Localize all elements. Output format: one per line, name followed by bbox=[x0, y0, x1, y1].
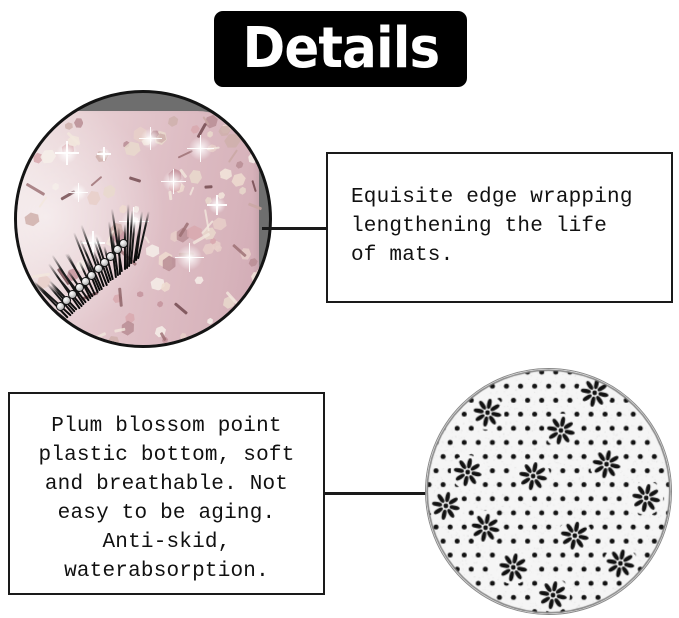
connector-line-bottom bbox=[323, 492, 429, 495]
product-photo-plastic-bottom bbox=[425, 368, 672, 615]
details-title-banner: Details bbox=[214, 11, 467, 87]
eyelash-decoration bbox=[39, 221, 157, 339]
product-photo-edge-wrapping bbox=[14, 90, 272, 348]
page-title: Details bbox=[242, 21, 439, 77]
plum-blossom-dot-pattern bbox=[426, 369, 671, 614]
callout-edge-wrapping: Equisite edge wrapping lengthening the l… bbox=[326, 152, 673, 303]
callout-plastic-bottom: Plum blossom point plastic bottom, soft … bbox=[8, 392, 325, 595]
connector-line-top bbox=[262, 227, 328, 230]
